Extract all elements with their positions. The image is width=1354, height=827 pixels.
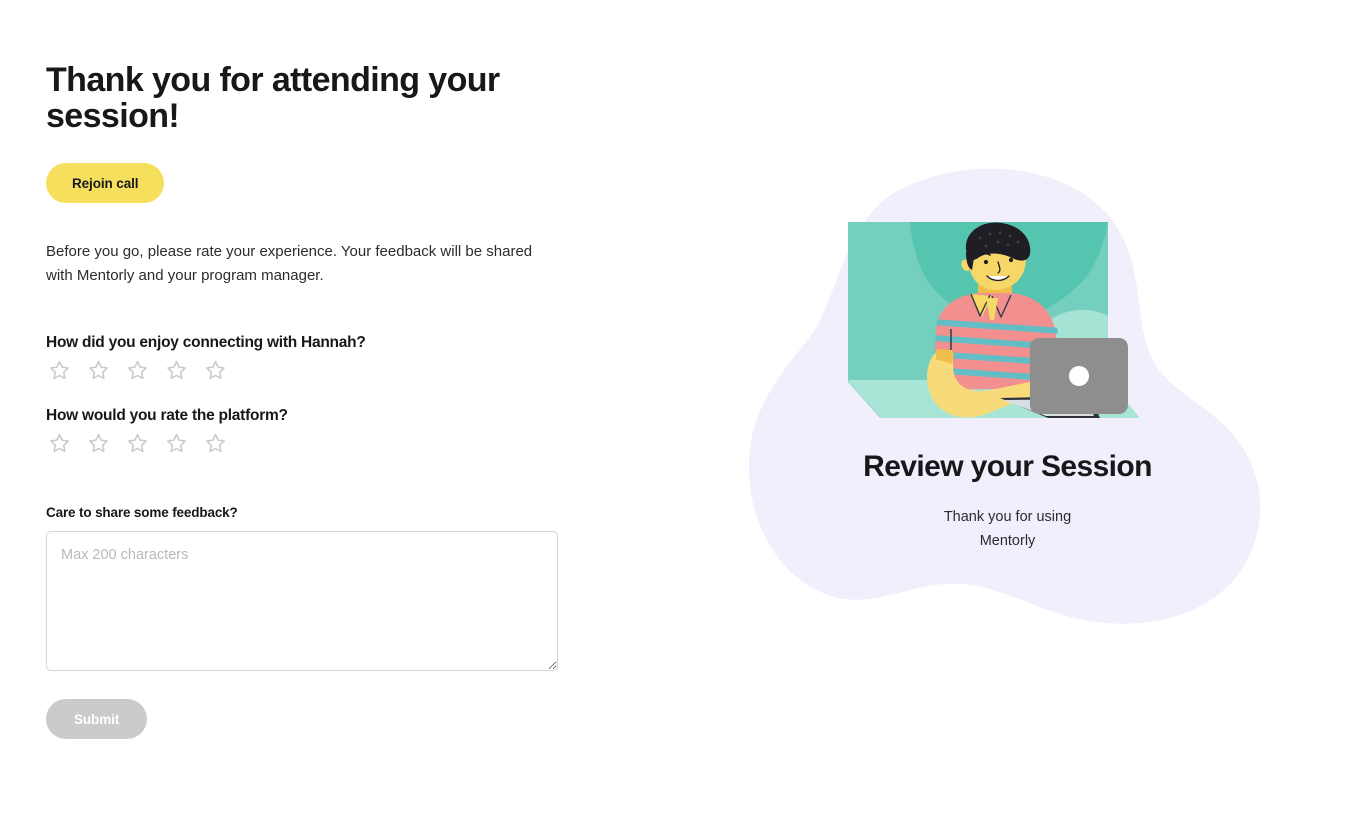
rating-question-mentor: How did you enjoy connecting with Hannah… [46,334,606,352]
page-title: Thank you for attending your session! [46,62,516,134]
feedback-label: Care to share some feedback? [46,505,606,520]
star-outline-icon[interactable] [125,358,150,383]
star-rating-mentor[interactable] [47,358,606,383]
star-outline-icon[interactable] [47,358,72,383]
star-outline-icon[interactable] [203,431,228,456]
star-outline-icon[interactable] [203,358,228,383]
panel-subtitle-line-1: Thank you for using [944,509,1071,525]
intro-text: Before you go, please rate your experien… [46,240,536,288]
panel-title: Review your Session [735,450,1280,484]
star-rating-platform[interactable] [47,431,606,456]
star-outline-icon[interactable] [86,358,111,383]
rating-group-platform: How would you rate the platform? [46,407,606,456]
feedback-form-column: Thank you for attending your session! Re… [46,62,606,739]
rating-question-platform: How would you rate the platform? [46,407,606,425]
submit-button[interactable]: Submit [46,699,147,739]
feedback-group: Care to share some feedback? [46,505,606,671]
panel-subtitle: Thank you for using Mentorly [735,505,1280,553]
person-at-laptop-illustration [840,222,1140,444]
review-session-panel: Review your Session Thank you for using … [735,160,1280,640]
star-outline-icon[interactable] [164,431,189,456]
star-outline-icon[interactable] [125,431,150,456]
panel-subtitle-line-2: Mentorly [980,533,1036,549]
feedback-textarea[interactable] [46,531,558,671]
feedback-page: Thank you for attending your session! Re… [0,0,1354,827]
star-outline-icon[interactable] [47,431,72,456]
rejoin-call-button[interactable]: Rejoin call [46,163,164,203]
rating-group-mentor: How did you enjoy connecting with Hannah… [46,334,606,383]
star-outline-icon[interactable] [86,431,111,456]
star-outline-icon[interactable] [164,358,189,383]
